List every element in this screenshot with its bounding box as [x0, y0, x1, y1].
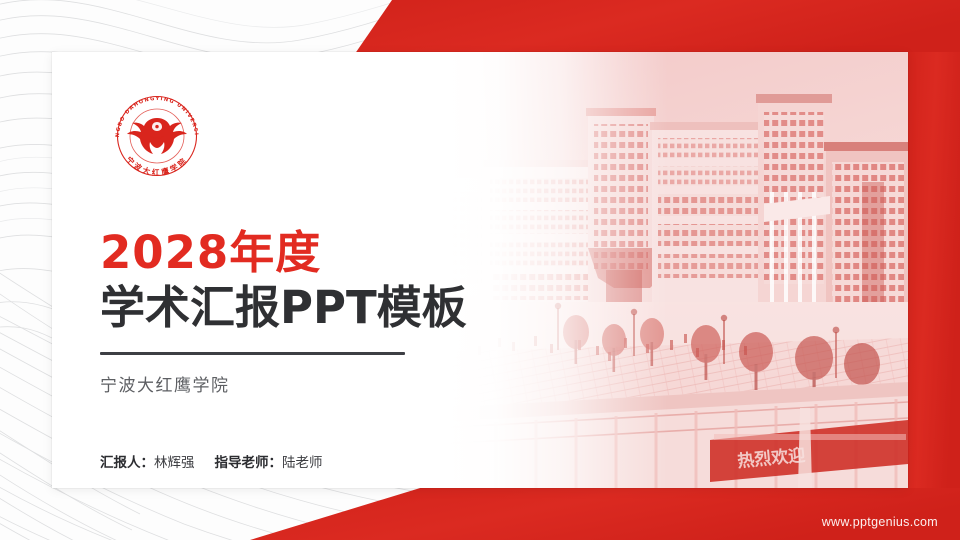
advisor-label: 指导老师： — [215, 455, 283, 470]
subtitle-university: 宁波大红鹰学院 — [100, 371, 530, 396]
logo-arc-text-bottom: 宁波大红鹰学院 — [124, 154, 189, 177]
svg-text:宁波大红鹰学院: 宁波大红鹰学院 — [124, 154, 189, 177]
slide-canvas: 热烈欢迎 NINGBO DAHONGYING UNIVERS — [0, 0, 960, 540]
page-title: 学术汇报PPT模板 — [100, 281, 530, 334]
presenter-name: 林辉强 — [154, 455, 195, 470]
title-block: 2028年度 学术汇报PPT模板 宁波大红鹰学院 — [100, 227, 530, 396]
university-logo: NINGBO DAHONGYING UNIVERSITY 宁波大红鹰学院 — [101, 80, 213, 192]
presenter-info: 汇报人：林辉强指导老师：陆老师 — [100, 451, 323, 471]
watermark-url: www.pptgenius.com — [822, 515, 938, 529]
slide-card: 热烈欢迎 NINGBO DAHONGYING UNIVERS — [52, 52, 908, 488]
presenter-label: 汇报人： — [100, 455, 154, 470]
title-year: 2028年度 — [100, 227, 530, 279]
advisor-name: 陆老师 — [282, 455, 323, 470]
phoenix-emblem — [127, 118, 187, 154]
title-divider — [100, 352, 405, 355]
